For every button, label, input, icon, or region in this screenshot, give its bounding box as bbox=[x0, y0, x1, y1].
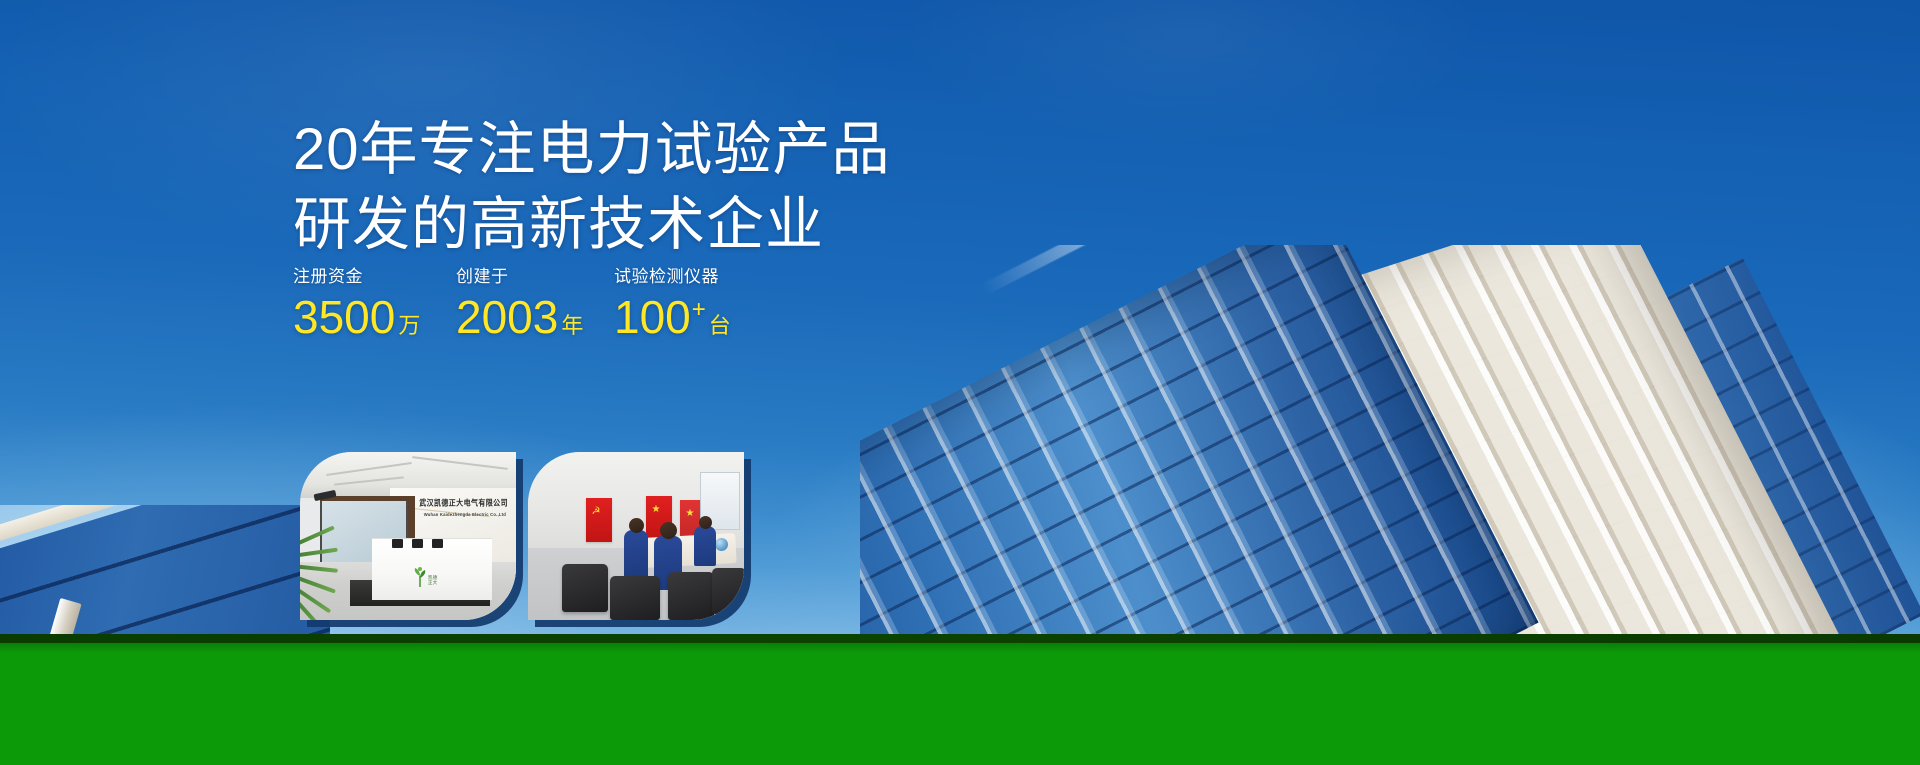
company-stats: 注册资金 3500 万 创建于 2003 年 试验检测仪器 100 + 台 bbox=[293, 268, 731, 340]
company-logo-text: 凯德正大 bbox=[428, 576, 437, 586]
stat-number: 100 bbox=[614, 294, 691, 340]
desk-globe bbox=[715, 538, 728, 551]
company-name-sign-en: Wuhan Kaidezhengda Electric Co.,Ltd bbox=[424, 512, 506, 517]
stat-superscript: + bbox=[692, 298, 706, 322]
stat-test-instruments: 试验检测仪器 100 + 台 bbox=[614, 268, 731, 340]
company-name-sign-cn: 武汉凯德正大电气有限公司 bbox=[419, 497, 508, 509]
footer-divider bbox=[0, 634, 1920, 643]
potted-palm bbox=[300, 528, 356, 606]
stat-label: 创建于 bbox=[456, 268, 614, 285]
office-reception-photo: 武汉凯德正大电气有限公司 Wuhan Kaidezhengda Electric… bbox=[300, 452, 516, 620]
palm-frond bbox=[300, 525, 335, 547]
office-chair bbox=[712, 568, 744, 614]
hero-banner: 20年专注电力试验产品 研发的高新技术企业 注册资金 3500 万 创建于 20… bbox=[0, 0, 1920, 765]
palm-frond bbox=[300, 548, 338, 558]
footer-band-sheen bbox=[0, 643, 1920, 653]
company-logo-icon bbox=[412, 566, 428, 588]
stat-value: 3500 万 bbox=[293, 294, 456, 340]
party-emblem-icon: ☭ bbox=[590, 506, 602, 518]
stat-number: 2003 bbox=[456, 294, 558, 340]
office-chair bbox=[610, 576, 660, 620]
office-chair bbox=[562, 564, 608, 612]
stat-registered-capital: 注册资金 3500 万 bbox=[293, 268, 456, 340]
attendee bbox=[624, 530, 648, 578]
star-icon: ★ bbox=[684, 508, 696, 520]
stat-unit: 万 bbox=[398, 315, 420, 337]
photo-gallery: 武汉凯德正大电气有限公司 Wuhan Kaidezhengda Electric… bbox=[300, 452, 744, 620]
page-title: 20年专注电力试验产品 研发的高新技术企业 bbox=[293, 112, 1053, 263]
stat-value: 100 + 台 bbox=[614, 294, 731, 340]
stat-label: 注册资金 bbox=[293, 268, 456, 285]
attendee-head bbox=[699, 516, 712, 529]
attendee bbox=[694, 526, 716, 566]
palm-frond bbox=[300, 564, 338, 573]
meeting-room-photo: ☭ ★ ★ bbox=[528, 452, 744, 620]
photo-card-office-reception[interactable]: 武汉凯德正大电气有限公司 Wuhan Kaidezhengda Electric… bbox=[300, 452, 516, 620]
palm-frond bbox=[300, 574, 336, 593]
desk-monitor bbox=[432, 539, 443, 548]
party-flag: ☭ bbox=[586, 498, 612, 542]
footer-green-band bbox=[0, 643, 1920, 765]
attendee-head bbox=[660, 522, 677, 539]
desk-monitor bbox=[412, 539, 423, 548]
headline-line-2: 研发的高新技术企业 bbox=[293, 187, 1053, 262]
stat-unit: 台 bbox=[709, 315, 731, 337]
attendee-head bbox=[629, 518, 644, 533]
stat-value: 2003 年 bbox=[456, 294, 614, 340]
star-icon: ★ bbox=[650, 504, 662, 516]
stat-number: 3500 bbox=[293, 294, 395, 340]
stat-unit: 年 bbox=[561, 315, 583, 337]
office-chair bbox=[668, 572, 714, 620]
photo-card-meeting-room[interactable]: ☭ ★ ★ bbox=[528, 452, 744, 620]
headline-line-1: 20年专注电力试验产品 bbox=[293, 112, 1053, 187]
stat-founded-year: 创建于 2003 年 bbox=[456, 268, 614, 340]
desk-monitor bbox=[392, 539, 403, 548]
stat-label: 试验检测仪器 bbox=[614, 268, 731, 285]
